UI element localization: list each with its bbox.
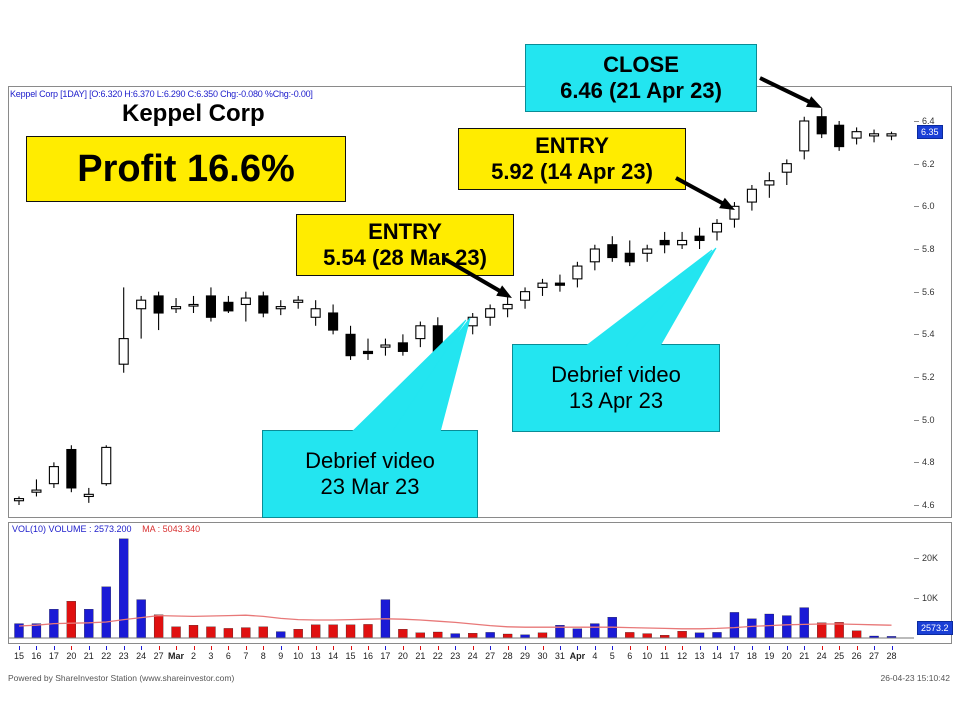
date-axis-label: 15 <box>14 651 24 661</box>
volume-axis-tick <box>914 598 919 599</box>
price-axis-tick <box>914 462 919 463</box>
date-axis-tick <box>473 646 474 650</box>
date-axis-label: 29 <box>520 651 530 661</box>
date-axis-label: 4 <box>592 651 597 661</box>
price-axis-tick <box>914 377 919 378</box>
entry-callout-1: ENTRY 5.54 (28 Mar 23) <box>296 214 514 276</box>
date-axis-label: 12 <box>677 651 687 661</box>
date-axis-label: 26 <box>852 651 862 661</box>
date-axis-tick <box>159 646 160 650</box>
volume-axis-label: 20K <box>922 553 938 563</box>
volume-axis-label: 10K <box>922 593 938 603</box>
date-axis-tick <box>874 646 875 650</box>
date-axis-label: 31 <box>555 651 565 661</box>
date-axis-label: Mar <box>168 651 184 661</box>
price-axis-label: 6.0 <box>922 201 935 211</box>
chart-screenshot: Keppel Corp [1DAY] [O:6.320 H:6.370 L:6.… <box>0 0 960 720</box>
price-axis-label: 5.8 <box>922 244 935 254</box>
price-axis-tick <box>914 334 919 335</box>
date-axis-tick <box>560 646 561 650</box>
date-axis-label: 16 <box>363 651 373 661</box>
date-axis-tick <box>804 646 805 650</box>
date-axis-label: 28 <box>886 651 896 661</box>
date-axis-label: 22 <box>101 651 111 661</box>
date-axis-tick <box>490 646 491 650</box>
date-axis-label: 15 <box>346 651 356 661</box>
date-axis-label: 18 <box>747 651 757 661</box>
date-axis-label: 21 <box>84 651 94 661</box>
debrief1-title: Debrief video <box>305 448 435 474</box>
date-axis-tick <box>351 646 352 650</box>
price-axis-label: 5.6 <box>922 287 935 297</box>
date-axis-label: 6 <box>226 651 231 661</box>
date-axis-tick <box>612 646 613 650</box>
date-axis-label: 24 <box>468 651 478 661</box>
date-axis-tick <box>263 646 264 650</box>
price-axis-label: 4.6 <box>922 500 935 510</box>
date-axis-label: 24 <box>136 651 146 661</box>
date-axis-tick <box>682 646 683 650</box>
entry1-title: ENTRY <box>368 219 442 245</box>
date-axis-label: 25 <box>834 651 844 661</box>
date-axis-label: 20 <box>66 651 76 661</box>
date-axis-tick <box>176 646 177 650</box>
date-axis-tick <box>839 646 840 650</box>
date-axis-tick <box>752 646 753 650</box>
date-axis-tick <box>543 646 544 650</box>
price-axis-label: 4.8 <box>922 457 935 467</box>
date-axis-label: 5 <box>610 651 615 661</box>
debrief2-date: 13 Apr 23 <box>569 388 663 414</box>
date-axis-label: 8 <box>261 651 266 661</box>
date-axis-label: 13 <box>311 651 321 661</box>
date-axis-label: 27 <box>485 651 495 661</box>
date-axis-label: 10 <box>642 651 652 661</box>
date-axis-label: 9 <box>278 651 283 661</box>
entry2-detail: 5.92 (14 Apr 23) <box>491 159 653 185</box>
price-axis-tick <box>914 505 919 506</box>
close-detail: 6.46 (21 Apr 23) <box>560 78 722 104</box>
price-axis-tick <box>914 249 919 250</box>
date-axis-tick <box>71 646 72 650</box>
date-axis-tick <box>211 646 212 650</box>
date-axis-label: Apr <box>570 651 586 661</box>
date-axis-tick <box>403 646 404 650</box>
close-callout: CLOSE 6.46 (21 Apr 23) <box>525 44 757 112</box>
date-axis-label: 19 <box>764 651 774 661</box>
date-axis-tick <box>281 646 282 650</box>
date-axis-tick <box>19 646 20 650</box>
price-axis-tick <box>914 206 919 207</box>
date-axis-tick <box>717 646 718 650</box>
current-volume-badge: 2573.2 <box>917 621 953 635</box>
debrief-callout-2: Debrief video 13 Apr 23 <box>512 344 720 432</box>
price-axis-label: 5.0 <box>922 415 935 425</box>
volume-axis-tick <box>914 558 919 559</box>
date-axis-label: 3 <box>208 651 213 661</box>
date-axis-label: 23 <box>450 651 460 661</box>
date-axis-tick <box>333 646 334 650</box>
date-axis-tick <box>124 646 125 650</box>
date-axis-tick <box>857 646 858 650</box>
price-axis-label: 6.2 <box>922 159 935 169</box>
date-axis-tick <box>89 646 90 650</box>
date-axis-tick <box>700 646 701 650</box>
date-axis-tick <box>36 646 37 650</box>
date-axis-label: 16 <box>31 651 41 661</box>
date-axis-tick <box>228 646 229 650</box>
price-axis-tick <box>914 292 919 293</box>
date-axis-label: 11 <box>660 651 669 661</box>
date-axis-tick <box>420 646 421 650</box>
timestamp-footer: 26-04-23 15:10:42 <box>881 673 950 683</box>
date-axis-tick <box>194 646 195 650</box>
date-axis-label: 14 <box>712 651 722 661</box>
date-axis-label: 27 <box>869 651 879 661</box>
date-axis-label: 28 <box>503 651 513 661</box>
date-axis-label: 20 <box>782 651 792 661</box>
date-axis-tick <box>577 646 578 650</box>
profit-callout: Profit 16.6% <box>26 136 346 202</box>
date-axis-label: 14 <box>328 651 338 661</box>
volume-svg <box>9 530 914 643</box>
date-axis-label: 24 <box>817 651 827 661</box>
date-axis-tick <box>665 646 666 650</box>
date-axis-tick <box>630 646 631 650</box>
date-axis-label: 6 <box>627 651 632 661</box>
date-axis-label: 30 <box>537 651 547 661</box>
powered-by-footer: Powered by ShareInvestor Station (www.sh… <box>8 673 234 683</box>
date-axis-label: 21 <box>799 651 809 661</box>
date-axis-label: 21 <box>415 651 425 661</box>
date-axis-tick <box>734 646 735 650</box>
date-axis-label: 7 <box>243 651 248 661</box>
date-axis: 151617202122232427Mar2367891013141516172… <box>9 646 914 662</box>
date-axis-tick <box>141 646 142 650</box>
debrief-callout-1: Debrief video 23 Mar 23 <box>262 430 478 518</box>
date-axis-label: 23 <box>119 651 129 661</box>
date-axis-tick <box>525 646 526 650</box>
date-axis-tick <box>54 646 55 650</box>
debrief2-title: Debrief video <box>551 362 681 388</box>
price-axis-tick <box>914 164 919 165</box>
date-axis-tick <box>106 646 107 650</box>
price-axis-tick <box>914 121 919 122</box>
date-axis-label: 17 <box>729 651 739 661</box>
date-axis-tick <box>438 646 439 650</box>
date-axis-tick <box>316 646 317 650</box>
date-axis-tick <box>595 646 596 650</box>
date-axis-label: 10 <box>293 651 303 661</box>
date-axis-tick <box>455 646 456 650</box>
date-axis-tick <box>385 646 386 650</box>
entry2-title: ENTRY <box>535 133 609 159</box>
date-axis-tick <box>246 646 247 650</box>
date-axis-label: 17 <box>380 651 390 661</box>
date-axis-label: 20 <box>398 651 408 661</box>
date-axis-tick <box>508 646 509 650</box>
date-axis-label: 17 <box>49 651 59 661</box>
date-axis-label: 22 <box>433 651 443 661</box>
date-axis-tick <box>647 646 648 650</box>
current-price-badge: 6.35 <box>917 125 943 139</box>
date-axis-label: 13 <box>695 651 705 661</box>
price-axis-tick <box>914 420 919 421</box>
entry-callout-2: ENTRY 5.92 (14 Apr 23) <box>458 128 686 190</box>
date-axis-tick <box>822 646 823 650</box>
entry1-detail: 5.54 (28 Mar 23) <box>323 245 487 271</box>
date-axis-label: 27 <box>154 651 164 661</box>
profit-text: Profit 16.6% <box>77 147 295 192</box>
date-axis-tick <box>892 646 893 650</box>
date-axis-tick <box>769 646 770 650</box>
debrief1-date: 23 Mar 23 <box>320 474 419 500</box>
date-axis-tick <box>298 646 299 650</box>
close-title: CLOSE <box>603 52 679 78</box>
volume-bars-plot <box>9 530 914 643</box>
date-axis-tick <box>368 646 369 650</box>
price-axis-label: 5.4 <box>922 329 935 339</box>
price-axis-label: 5.2 <box>922 372 935 382</box>
date-axis-label: 2 <box>191 651 196 661</box>
date-axis-tick <box>787 646 788 650</box>
